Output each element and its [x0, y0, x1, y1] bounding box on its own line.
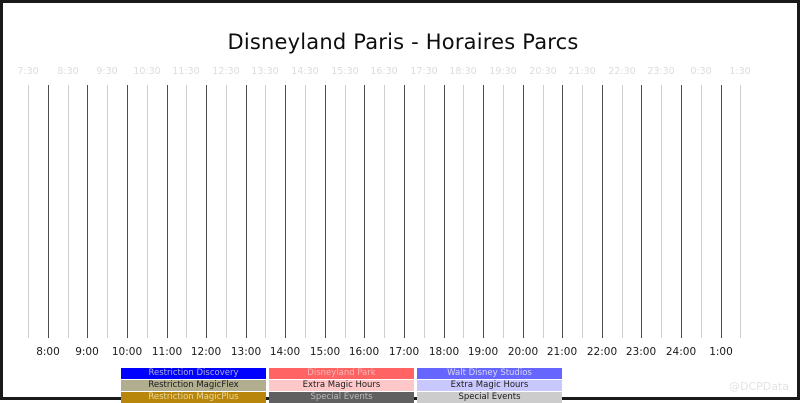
gridline-hour [523, 85, 524, 338]
gridline-half-hour [424, 85, 425, 338]
top-ticklabel: 15:30 [331, 66, 358, 77]
bottom-ticklabel: 21:00 [547, 346, 577, 358]
bottom-ticklabel: 17:00 [389, 346, 419, 358]
top-ticklabel: 1:30 [729, 66, 750, 77]
top-ticklabel: 10:30 [133, 66, 160, 77]
bottom-ticklabel: 15:00 [310, 346, 340, 358]
legend-entry[interactable]: Special Events [417, 392, 562, 403]
gridline-hour [285, 85, 286, 338]
bottom-ticklabel: 20:00 [508, 346, 538, 358]
gridline-half-hour [345, 85, 346, 338]
top-ticklabel: 11:30 [172, 66, 199, 77]
plot-area [27, 85, 779, 338]
gridline-hour [87, 85, 88, 338]
top-ticklabel: 18:30 [449, 66, 476, 77]
gridline-hour [167, 85, 168, 338]
gridline-hour [602, 85, 603, 338]
gridline-hour [325, 85, 326, 338]
chart-figure: Disneyland Paris - Horaires Parcs 7:308:… [0, 0, 800, 400]
gridline-half-hour [463, 85, 464, 338]
bottom-ticklabel: 8:00 [36, 346, 60, 358]
gridline-hour [681, 85, 682, 338]
top-ticklabel: 13:30 [251, 66, 278, 77]
gridline-half-hour [107, 85, 108, 338]
legend-column-restrictions: Restriction DiscoveryRestriction MagicFl… [121, 368, 266, 403]
bottom-ticklabel: 1:00 [709, 346, 733, 358]
watermark: @DCPData [729, 380, 789, 393]
page-title: Disneyland Paris - Horaires Parcs [3, 30, 800, 54]
bottom-ticklabel: 24:00 [666, 346, 696, 358]
bottom-ticklabel: 14:00 [270, 346, 300, 358]
gridline-half-hour [701, 85, 702, 338]
gridline-hour [444, 85, 445, 338]
gridline-half-hour [661, 85, 662, 338]
top-ticklabel: 8:30 [57, 66, 78, 77]
legend-entry[interactable]: Restriction MagicFlex [121, 380, 266, 391]
gridline-half-hour [68, 85, 69, 338]
gridline-half-hour [265, 85, 266, 338]
gridline-half-hour [384, 85, 385, 338]
top-ticklabel: 20:30 [529, 66, 556, 77]
gridline-hour [483, 85, 484, 338]
gridline-half-hour [147, 85, 148, 338]
bottom-ticklabel: 11:00 [152, 346, 182, 358]
gridline-half-hour [582, 85, 583, 338]
legend-entry[interactable]: Restriction MagicPlus [121, 392, 266, 403]
gridline-half-hour [543, 85, 544, 338]
bottom-ticklabel: 16:00 [349, 346, 379, 358]
gridline-hour [246, 85, 247, 338]
top-ticklabel: 12:30 [212, 66, 239, 77]
bottom-ticklabel: 19:00 [468, 346, 498, 358]
bottom-ticklabel: 23:00 [626, 346, 656, 358]
legend-entry[interactable]: Extra Magic Hours [417, 380, 562, 391]
gridline-half-hour [503, 85, 504, 338]
gridline-half-hour [740, 85, 741, 338]
top-ticklabel: 19:30 [489, 66, 516, 77]
gridline-hour [641, 85, 642, 338]
top-ticklabel: 14:30 [291, 66, 318, 77]
top-axis-ticklabels: 7:308:309:3010:3011:3012:3013:3014:3015:… [27, 66, 779, 80]
legend-entry[interactable]: Special Events [269, 392, 414, 403]
gridline-hour [48, 85, 49, 338]
gridline-hour [127, 85, 128, 338]
top-ticklabel: 17:30 [410, 66, 437, 77]
bottom-ticklabel: 10:00 [112, 346, 142, 358]
top-ticklabel: 7:30 [17, 66, 38, 77]
gridline-hour [721, 85, 722, 338]
legend-entry[interactable]: Extra Magic Hours [269, 380, 414, 391]
gridline-half-hour [622, 85, 623, 338]
top-ticklabel: 22:30 [608, 66, 635, 77]
gridline-hour [562, 85, 563, 338]
chart-legend: Restriction DiscoveryRestriction MagicFl… [121, 368, 562, 403]
top-ticklabel: 9:30 [96, 66, 117, 77]
gridline-hour [404, 85, 405, 338]
bottom-ticklabel: 13:00 [231, 346, 261, 358]
top-ticklabel: 23:30 [647, 66, 674, 77]
bottom-ticklabel: 9:00 [75, 346, 99, 358]
bottom-ticklabel: 12:00 [191, 346, 221, 358]
legend-column-disneyland-park: Disneyland ParkExtra Magic HoursSpecial … [269, 368, 414, 403]
gridline-half-hour [186, 85, 187, 338]
gridline-half-hour [226, 85, 227, 338]
bottom-axis-ticklabels: 8:009:0010:0011:0012:0013:0014:0015:0016… [27, 346, 779, 360]
bottom-ticklabel: 22:00 [587, 346, 617, 358]
top-ticklabel: 0:30 [690, 66, 711, 77]
legend-column-walt-disney-studios: Walt Disney StudiosExtra Magic HoursSpec… [417, 368, 562, 403]
gridline-hour [364, 85, 365, 338]
top-ticklabel: 16:30 [370, 66, 397, 77]
top-ticklabel: 21:30 [568, 66, 595, 77]
gridline-hour [206, 85, 207, 338]
legend-entry[interactable]: Restriction Discovery [121, 368, 266, 379]
legend-entry[interactable]: Walt Disney Studios [417, 368, 562, 379]
gridline-half-hour [305, 85, 306, 338]
bottom-ticklabel: 18:00 [429, 346, 459, 358]
legend-entry[interactable]: Disneyland Park [269, 368, 414, 379]
gridline-half-hour [28, 85, 29, 338]
